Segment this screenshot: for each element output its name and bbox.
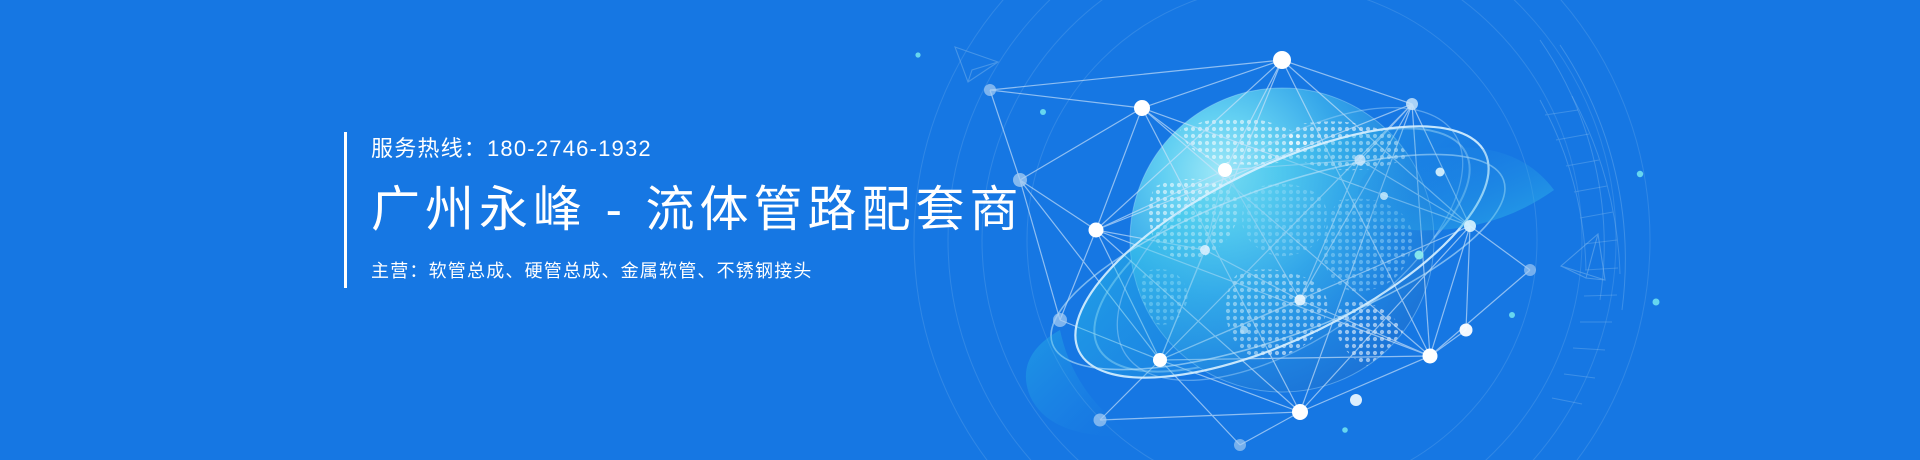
banner-tagline: 主营：软管总成、硬管总成、金属软管、不锈钢接头	[371, 262, 1024, 280]
banner-headline: 广州永峰 - 流体管路配套商	[371, 186, 1024, 235]
service-hotline: 服务热线：180-2746-1932	[371, 138, 1024, 160]
banner-text-block: 服务热线：180-2746-1932 广州永峰 - 流体管路配套商 主营：软管总…	[344, 128, 1024, 298]
text-lines: 服务热线：180-2746-1932 广州永峰 - 流体管路配套商 主营：软管总…	[347, 128, 1024, 298]
promo-banner: 服务热线：180-2746-1932 广州永峰 - 流体管路配套商 主营：软管总…	[0, 0, 1920, 460]
